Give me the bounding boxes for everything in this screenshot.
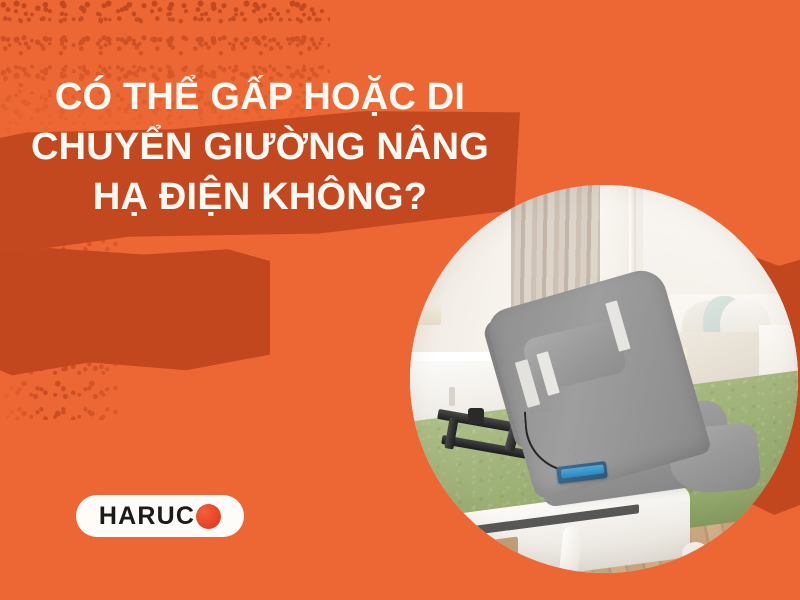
headline-line-1: CÓ THỂ GẤP HOẶC DI bbox=[0, 72, 520, 122]
poster-canvas: CÓ THỂ GẤP HOẶC DI CHUYỂN GIƯỜNG NÂNG HẠ… bbox=[0, 0, 800, 600]
cabinet-handle bbox=[449, 387, 455, 406]
shelf-left bbox=[410, 305, 441, 324]
red-circle-o-icon bbox=[196, 504, 221, 529]
lift-frame-knob bbox=[468, 408, 484, 424]
bed-rail-foot bbox=[682, 542, 709, 565]
haruco-logo[interactable]: HARUC bbox=[76, 495, 244, 537]
product-photo-scene bbox=[410, 185, 798, 573]
headline-line-2: CHUYỂN GIƯỜNG NÂNG bbox=[0, 122, 520, 172]
headline-line-3: HẠ ĐIỆN KHÔNG? bbox=[0, 172, 520, 222]
headline: CÓ THỂ GẤP HOẶC DI CHUYỂN GIƯỜNG NÂNG HẠ… bbox=[0, 72, 520, 222]
product-photo-circle bbox=[410, 185, 798, 573]
logo-wordmark: HARUC bbox=[99, 504, 195, 529]
